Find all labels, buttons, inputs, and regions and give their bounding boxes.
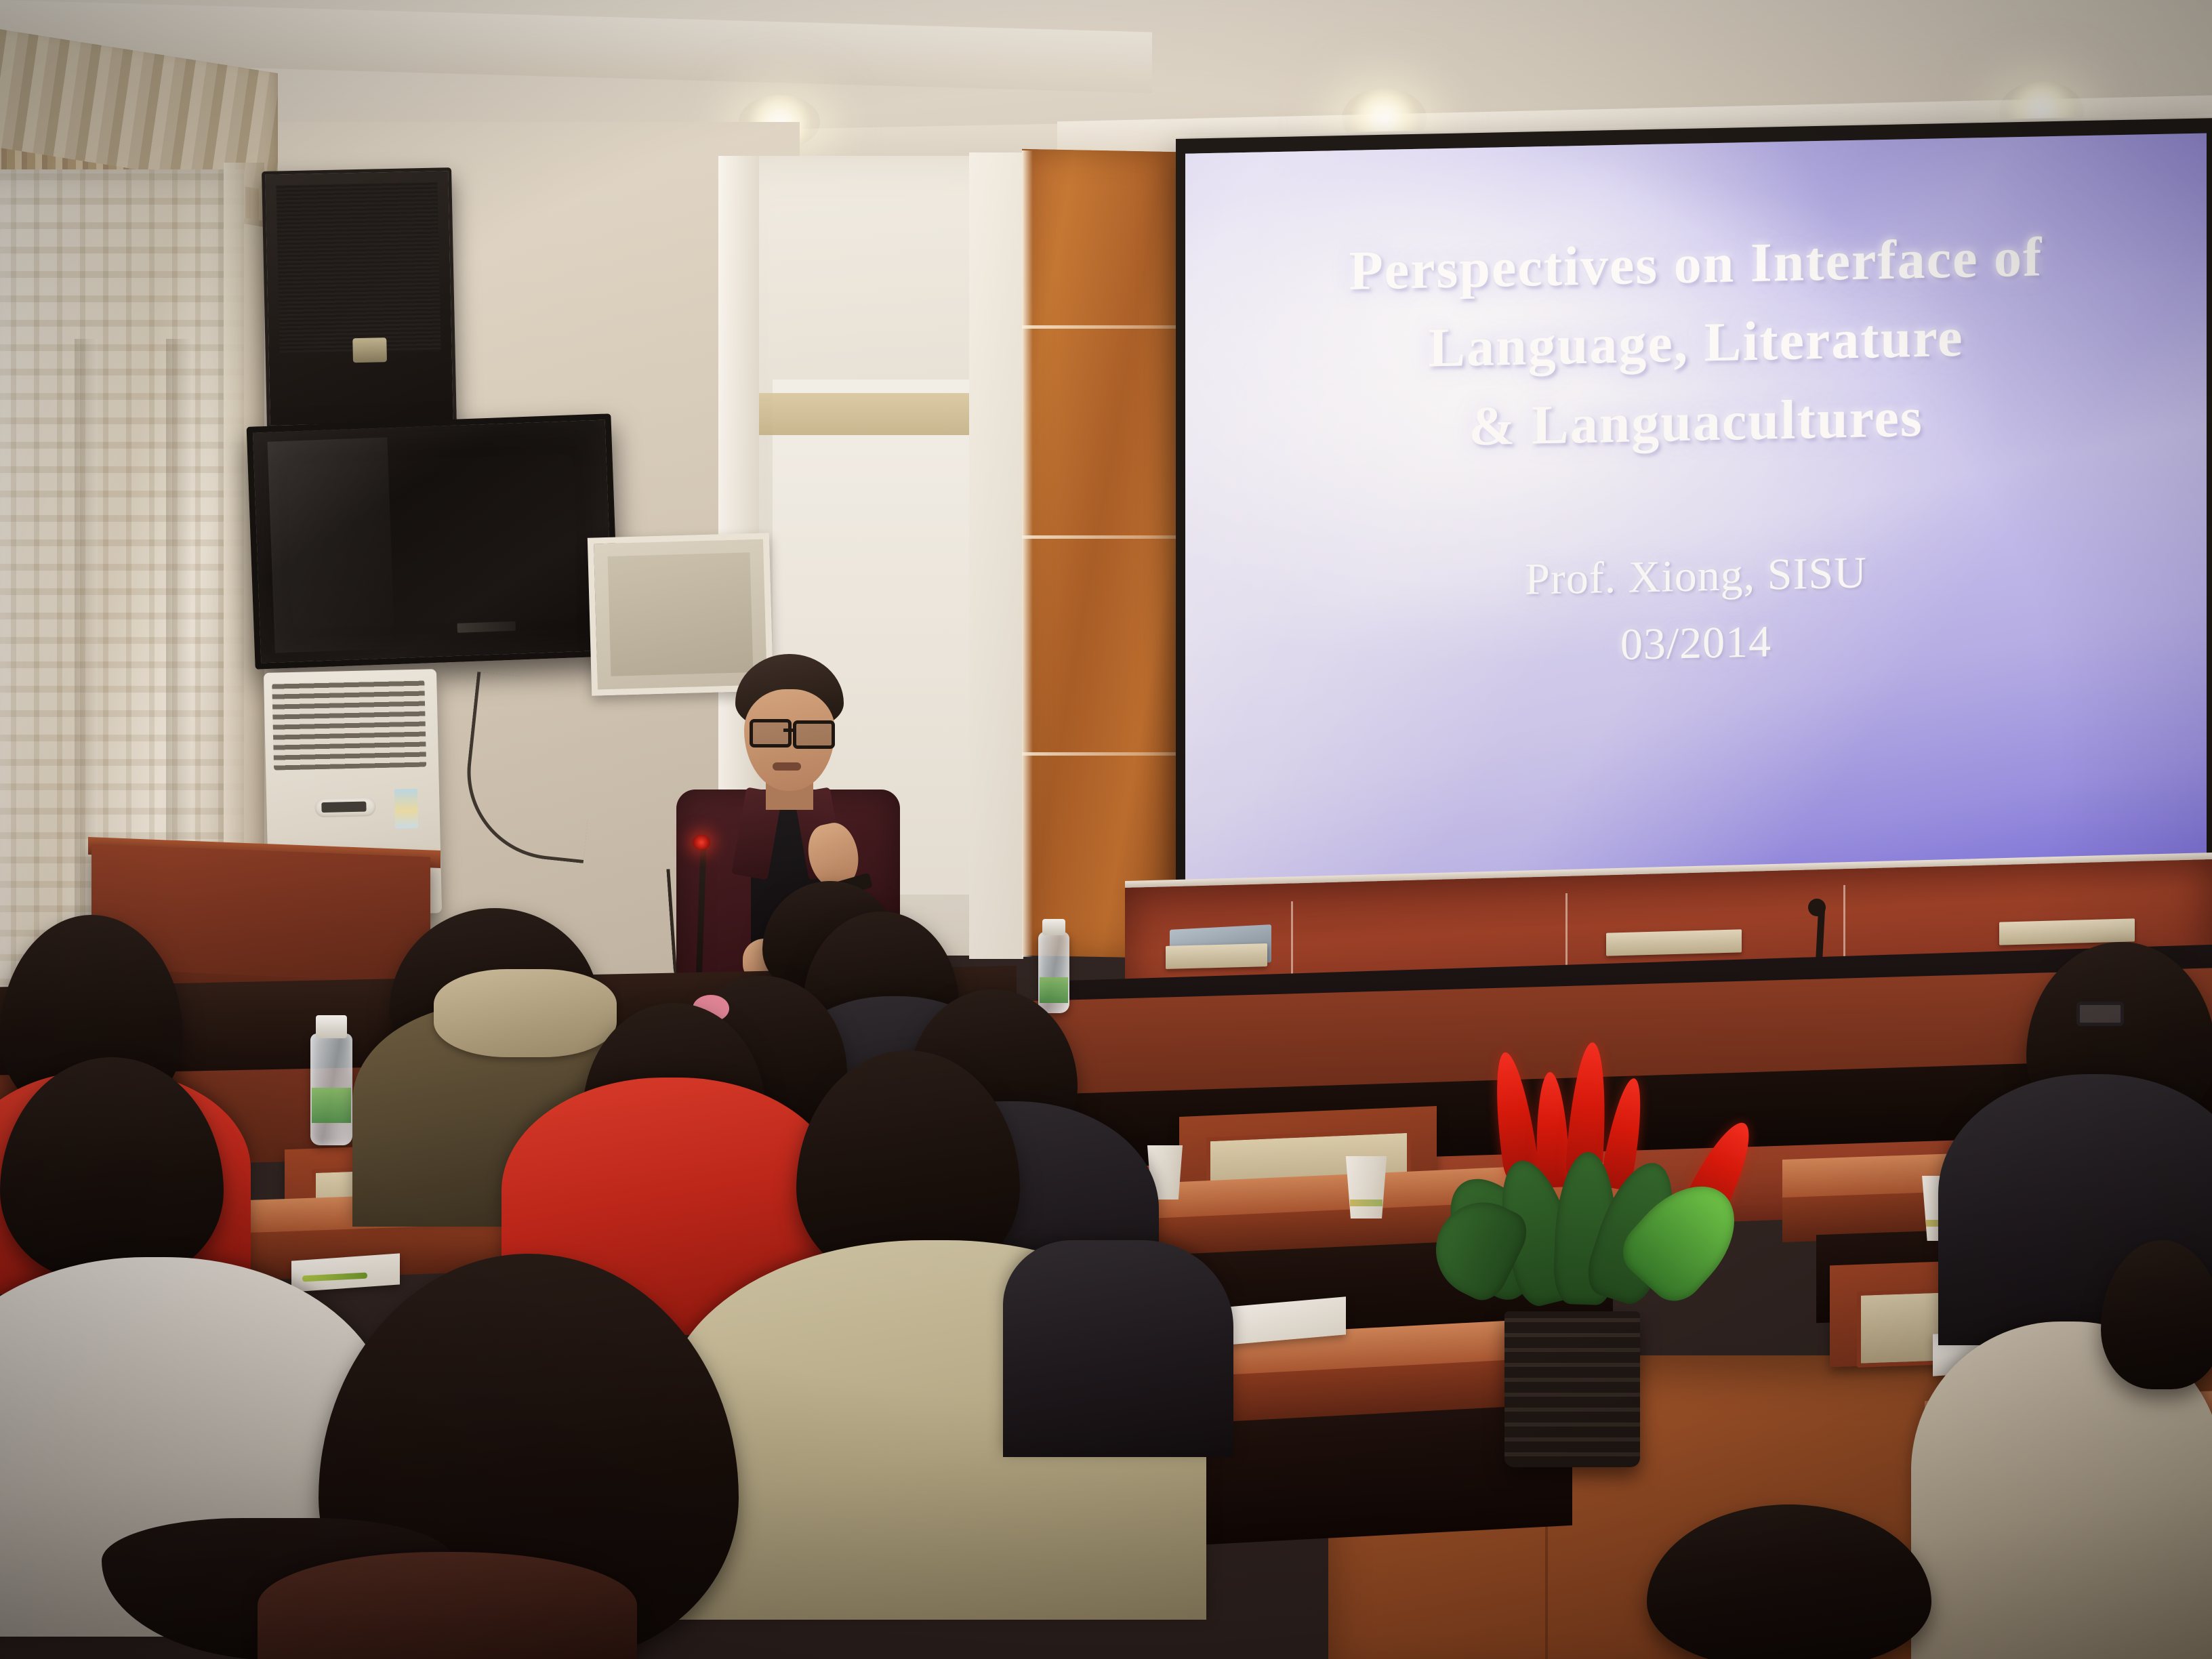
audience-body-shoulder [1003,1240,1233,1457]
bottle-cap [316,1015,347,1038]
audience-body [258,1552,637,1659]
slide-content: Perspectives on Interface of Language, L… [1185,133,2207,687]
plant-flower-spike [1488,1050,1540,1182]
ac-display-panel[interactable] [315,797,377,817]
microphone-led-indicator [693,835,710,850]
flat-screen-tv[interactable] [247,413,620,669]
ac-energy-label [394,789,418,829]
stage-microphone-head [1808,899,1826,916]
projection-screen[interactable]: Perspectives on Interface of Language, L… [1185,133,2207,884]
wood-panel-highlight [1022,150,1033,957]
stage-nameplate [1606,929,1742,956]
ac-display-screen [322,802,367,813]
plant-pot [1504,1311,1640,1467]
potted-plant [1416,1037,1837,1504]
eyeglasses-bridge [783,729,796,732]
wood-panel-seam [1022,535,1178,539]
paper-cup-print [1350,1200,1382,1206]
presenter-mouth [773,762,801,771]
wall-speaker [262,167,457,429]
speaker-grille [276,182,441,355]
tv-screen-glare [267,437,394,653]
eyeglasses-icon [750,719,792,747]
wood-panel-seam [1022,325,1178,329]
wood-panel-seam [1022,752,1178,756]
stage-nameplate [1999,918,2135,945]
marble-strip [969,152,1023,959]
tv-brand-logo [457,621,516,633]
speaker-badge [352,337,387,363]
ac-vent-louvers [272,680,426,771]
lecture-hall-photo: Perspectives on Interface of Language, L… [0,0,2212,1659]
stage-nameplate [1166,943,1267,969]
bottle-label [1040,977,1068,1003]
bottle-label [312,1088,351,1123]
audience-scarf [434,969,617,1057]
eyeglasses-icon [2076,1002,2124,1026]
wood-wall-panel [1022,149,1178,958]
projection-screen-frame: Perspectives on Interface of Language, L… [1176,118,2212,901]
bottle-cap [1042,919,1065,935]
paper-sheet[interactable] [291,1253,400,1292]
eyeglasses-icon [793,720,835,749]
